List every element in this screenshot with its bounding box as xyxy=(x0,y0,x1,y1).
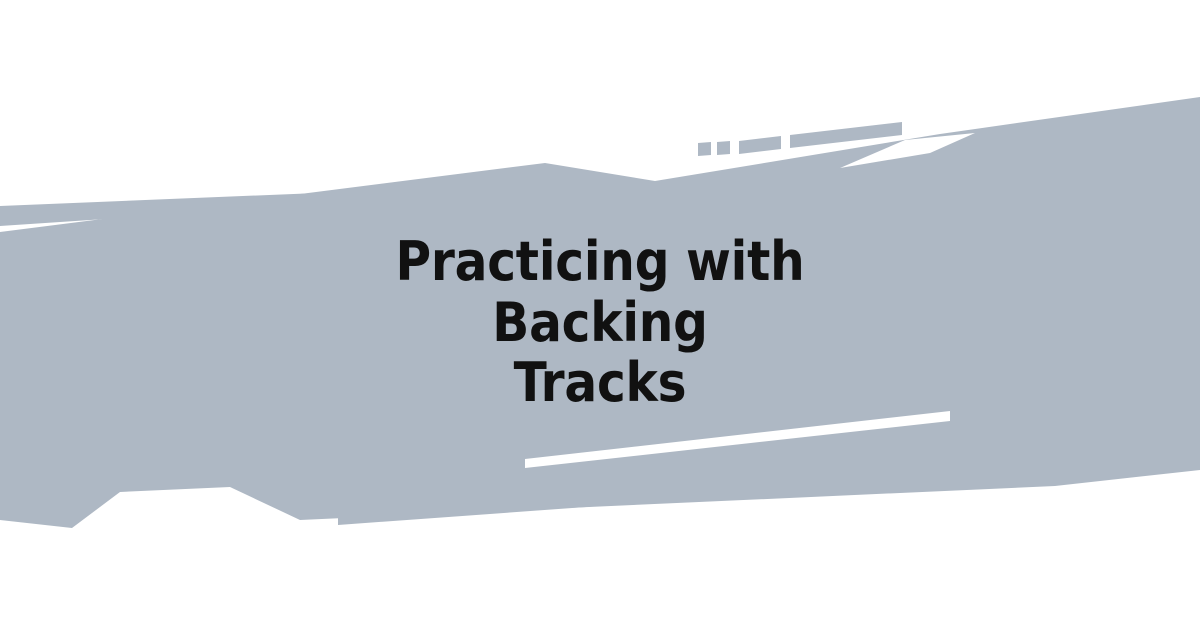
banner-background-graphic xyxy=(0,0,1200,630)
top-dash-small-1 xyxy=(698,142,711,156)
banner-card: Practicing with Backing Tracks xyxy=(0,0,1200,630)
top-dash-small-2 xyxy=(717,141,730,155)
